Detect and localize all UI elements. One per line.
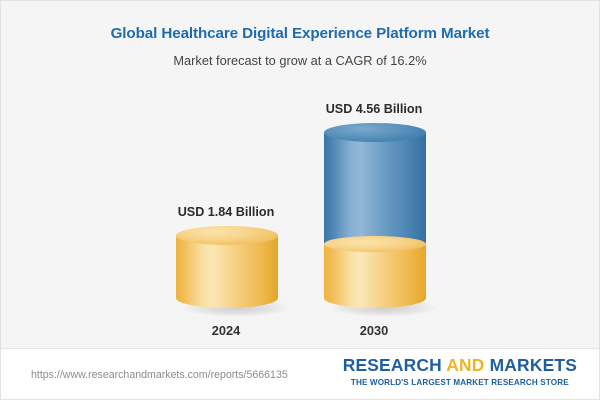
bar-body-2024	[176, 235, 278, 308]
bar-segment-2030-blue	[324, 132, 426, 244]
bar-segment-divider-2030	[324, 236, 426, 252]
logo-tagline: THE WORLD'S LARGEST MARKET RESEARCH STOR…	[343, 378, 577, 387]
bar-value-label-2030: USD 4.56 Billion	[274, 102, 474, 116]
bar-body-2030	[324, 132, 426, 308]
bar-group-2030: USD 4.56 Billion 2030	[274, 88, 474, 348]
bar-cylinder-2030[interactable]	[324, 123, 426, 308]
bar-top-cap-2030	[324, 123, 426, 142]
research-and-markets-logo[interactable]: RESEARCH AND MARKETS THE WORLD'S LARGEST…	[343, 355, 577, 387]
chart-subtitle: Market forecast to grow at a CAGR of 16.…	[1, 53, 599, 68]
chart-card: Global Healthcare Digital Experience Pla…	[0, 0, 600, 400]
bar-cylinder-2024[interactable]	[176, 226, 278, 308]
logo-word-and: AND	[446, 355, 484, 375]
chart-footer: https://www.researchandmarkets.com/repor…	[1, 349, 599, 399]
chart-panel: Global Healthcare Digital Experience Pla…	[1, 1, 599, 349]
source-url-link[interactable]: https://www.researchandmarkets.com/repor…	[31, 369, 288, 381]
logo-wordmark: RESEARCH AND MARKETS	[343, 355, 577, 376]
chart-title: Global Healthcare Digital Experience Pla…	[1, 25, 599, 42]
bar-top-cap-2024	[176, 226, 278, 245]
bar-segment-2030-yellow	[324, 244, 426, 308]
logo-word-markets: MARKETS	[490, 355, 577, 375]
logo-word-research: RESEARCH	[343, 355, 442, 375]
axis-label-2030: 2030	[274, 323, 474, 338]
bar-segment-2024-yellow	[176, 235, 278, 308]
